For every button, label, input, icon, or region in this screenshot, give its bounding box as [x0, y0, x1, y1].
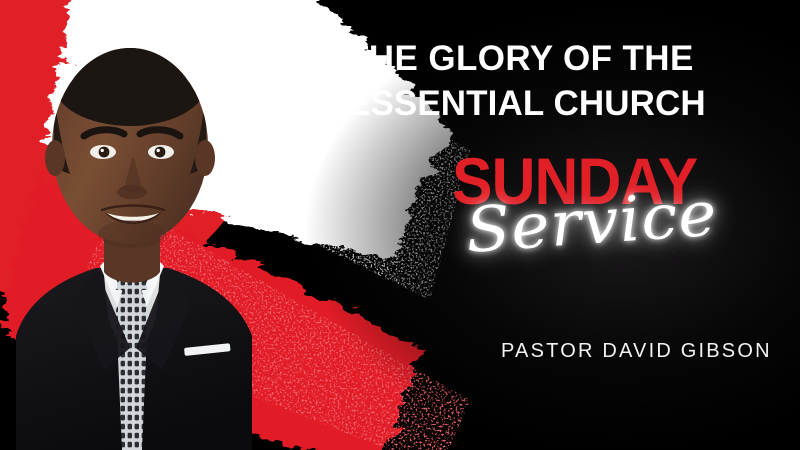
service-script-wordmark: Service [464, 179, 720, 266]
speaker-name: PASTOR DAVID GIBSON [501, 340, 772, 363]
sunday-service-lockup: SUNDAY Service [452, 148, 772, 298]
headline-line-1: THE GLORY OF THE [347, 36, 787, 81]
pastor-portrait-photo [8, 18, 278, 450]
sermon-title-card: THE GLORY OF THE ESSENTIAL CHURCH SUNDAY… [0, 0, 800, 450]
page-title: THE GLORY OF THE ESSENTIAL CHURCH [347, 36, 787, 126]
headline-line-2: ESSENTIAL CHURCH [347, 81, 787, 126]
